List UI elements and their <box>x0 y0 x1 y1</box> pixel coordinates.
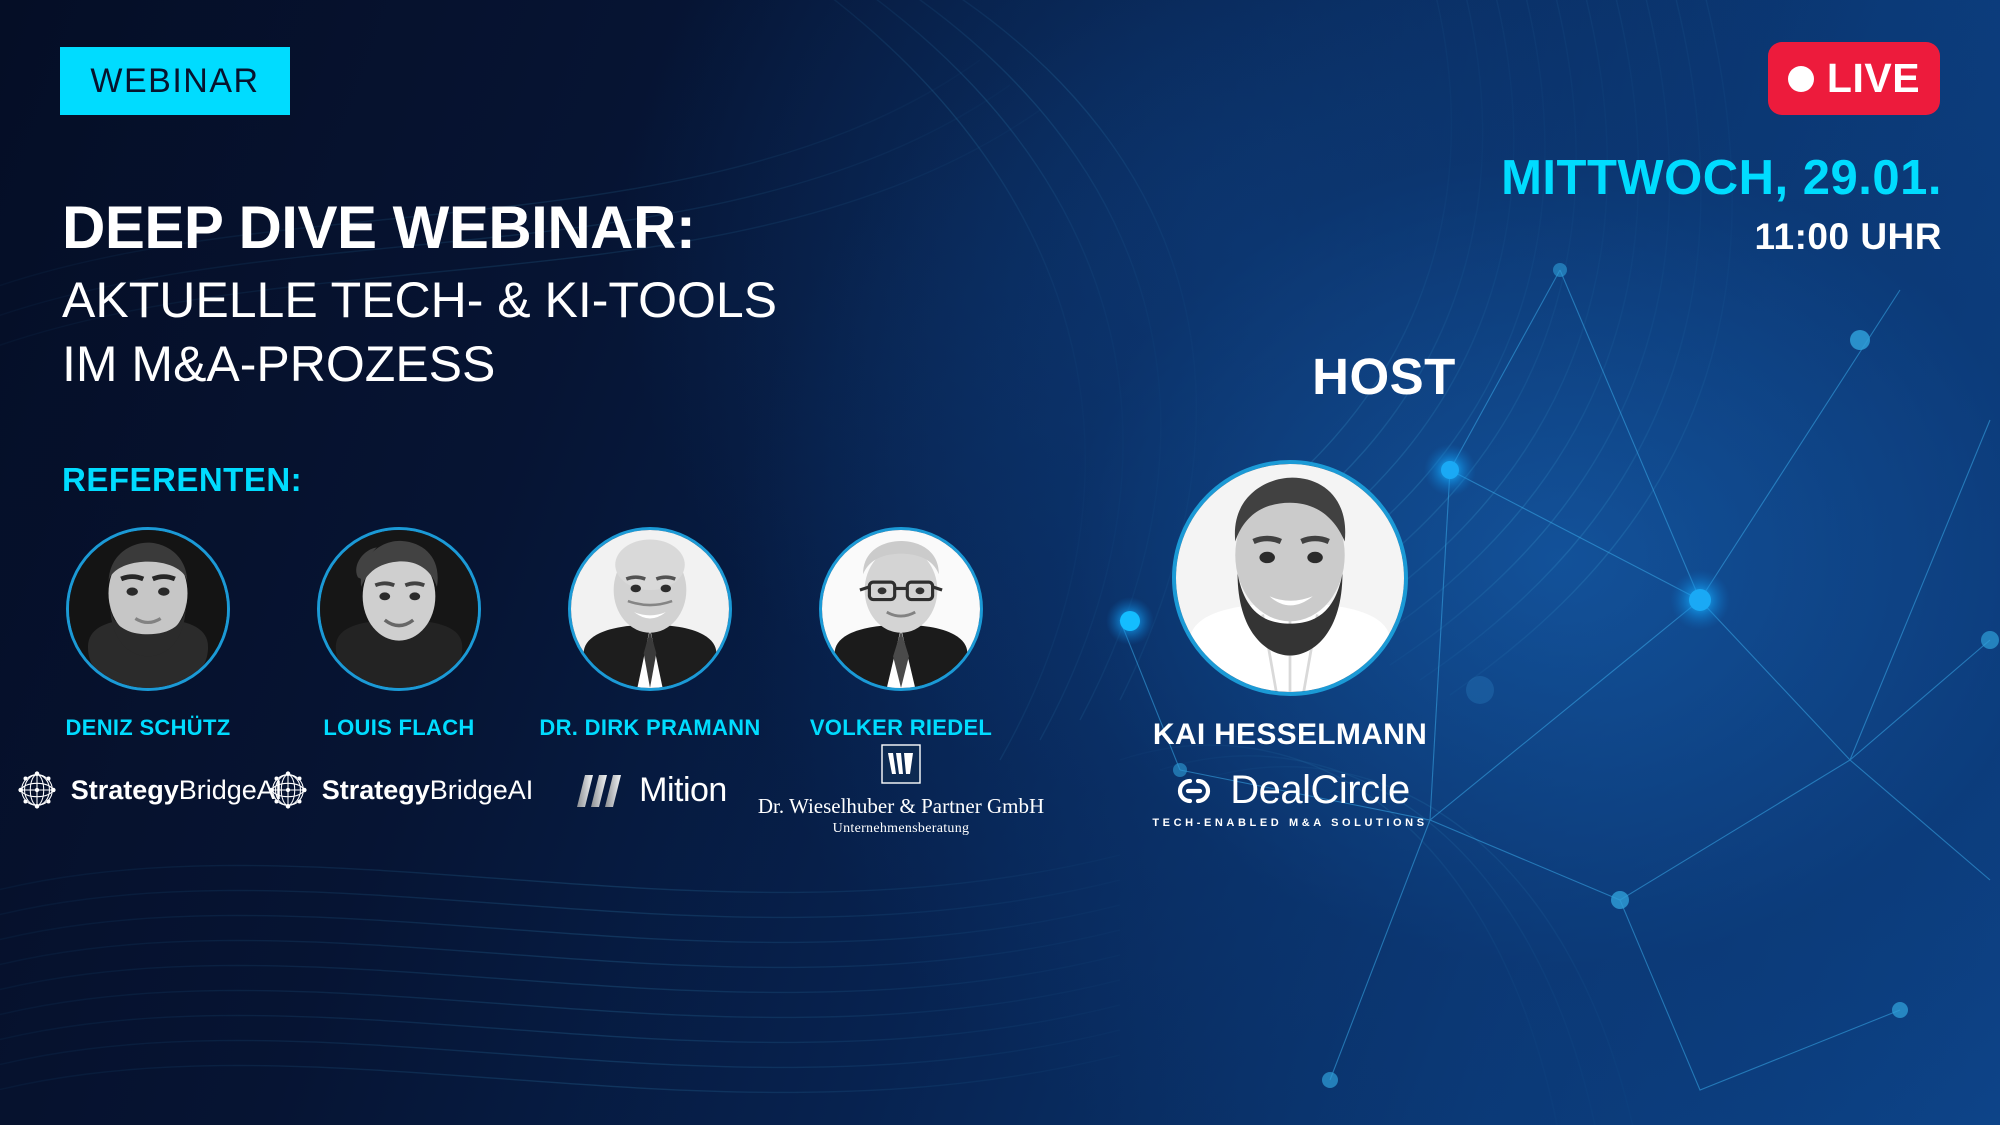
speaker-company-name: Dr. Wieselhuber & Partner GmbH <box>758 794 1044 819</box>
event-date: MITTWOCH, 29.01. <box>1501 150 1942 206</box>
avatar <box>317 527 481 691</box>
speaker-card: LOUIS FLACH <box>299 527 499 787</box>
page-subtitle-line-2: IM M&A-PROZESS <box>62 332 777 396</box>
webinar-badge: WEBINAR <box>60 47 290 115</box>
page-subtitle-line-1: AKTUELLE TECH- & KI-TOOLS <box>62 268 777 332</box>
live-badge: LIVE <box>1768 42 1940 115</box>
speaker-card: DR. DIRK PRAMANN <box>550 527 750 787</box>
speaker-name: DR. DIRK PRAMANN <box>539 715 760 741</box>
speakers-list: DENIZ SCHÜTZ <box>48 527 1068 787</box>
avatar <box>66 527 230 691</box>
network-sphere-icon <box>14 767 60 813</box>
speaker-card: VOLKER RIEDEL Dr. Wieselhuber & Partner … <box>801 527 1001 787</box>
speaker-name: VOLKER RIEDEL <box>810 715 992 741</box>
mition-m-icon <box>573 769 627 811</box>
webinar-promo-canvas: WEBINAR LIVE DEEP DIVE WEBINAR: AKTUELLE… <box>0 0 2000 1125</box>
speaker-name: DENIZ SCHÜTZ <box>66 715 231 741</box>
speaker-company-name-bold: Strategy <box>71 775 179 805</box>
dealcircle-rings-icon <box>1170 774 1218 808</box>
speaker-card: DENIZ SCHÜTZ <box>48 527 248 787</box>
live-record-dot-icon <box>1788 66 1814 92</box>
speaker-company-logo: Dr. Wieselhuber & Partner GmbH Unternehm… <box>751 755 1051 825</box>
host-company-logo: DealCircle TECH-ENABLED M&A SOLUTIONS <box>1140 768 1440 829</box>
speaker-name: LOUIS FLACH <box>323 715 474 741</box>
page-title: DEEP DIVE WEBINAR: <box>62 193 695 262</box>
speaker-company-name-bold: Strategy <box>322 775 430 805</box>
host-section-label: HOST <box>1284 347 1484 406</box>
live-badge-label: LIVE <box>1827 55 1920 102</box>
speaker-company-name: Mition <box>639 771 727 810</box>
page-subtitle: AKTUELLE TECH- & KI-TOOLS IM M&A-PROZESS <box>62 268 777 396</box>
network-sphere-icon <box>265 767 311 813</box>
event-time: 11:00 UHR <box>1754 216 1942 258</box>
webinar-badge-label: WEBINAR <box>90 62 259 101</box>
host-company-name: DealCircle <box>1230 768 1410 813</box>
host-name: KAI HESSELMANN <box>1090 718 1490 752</box>
speaker-company-subtitle: Unternehmensberatung <box>758 821 1044 837</box>
speakers-section-label: REFERENTEN: <box>62 461 302 499</box>
host-company-tagline: TECH-ENABLED M&A SOLUTIONS <box>1140 817 1440 829</box>
host-avatar <box>1172 460 1408 696</box>
wieselhuber-w-icon <box>881 744 921 784</box>
avatar <box>819 527 983 691</box>
avatar <box>568 527 732 691</box>
